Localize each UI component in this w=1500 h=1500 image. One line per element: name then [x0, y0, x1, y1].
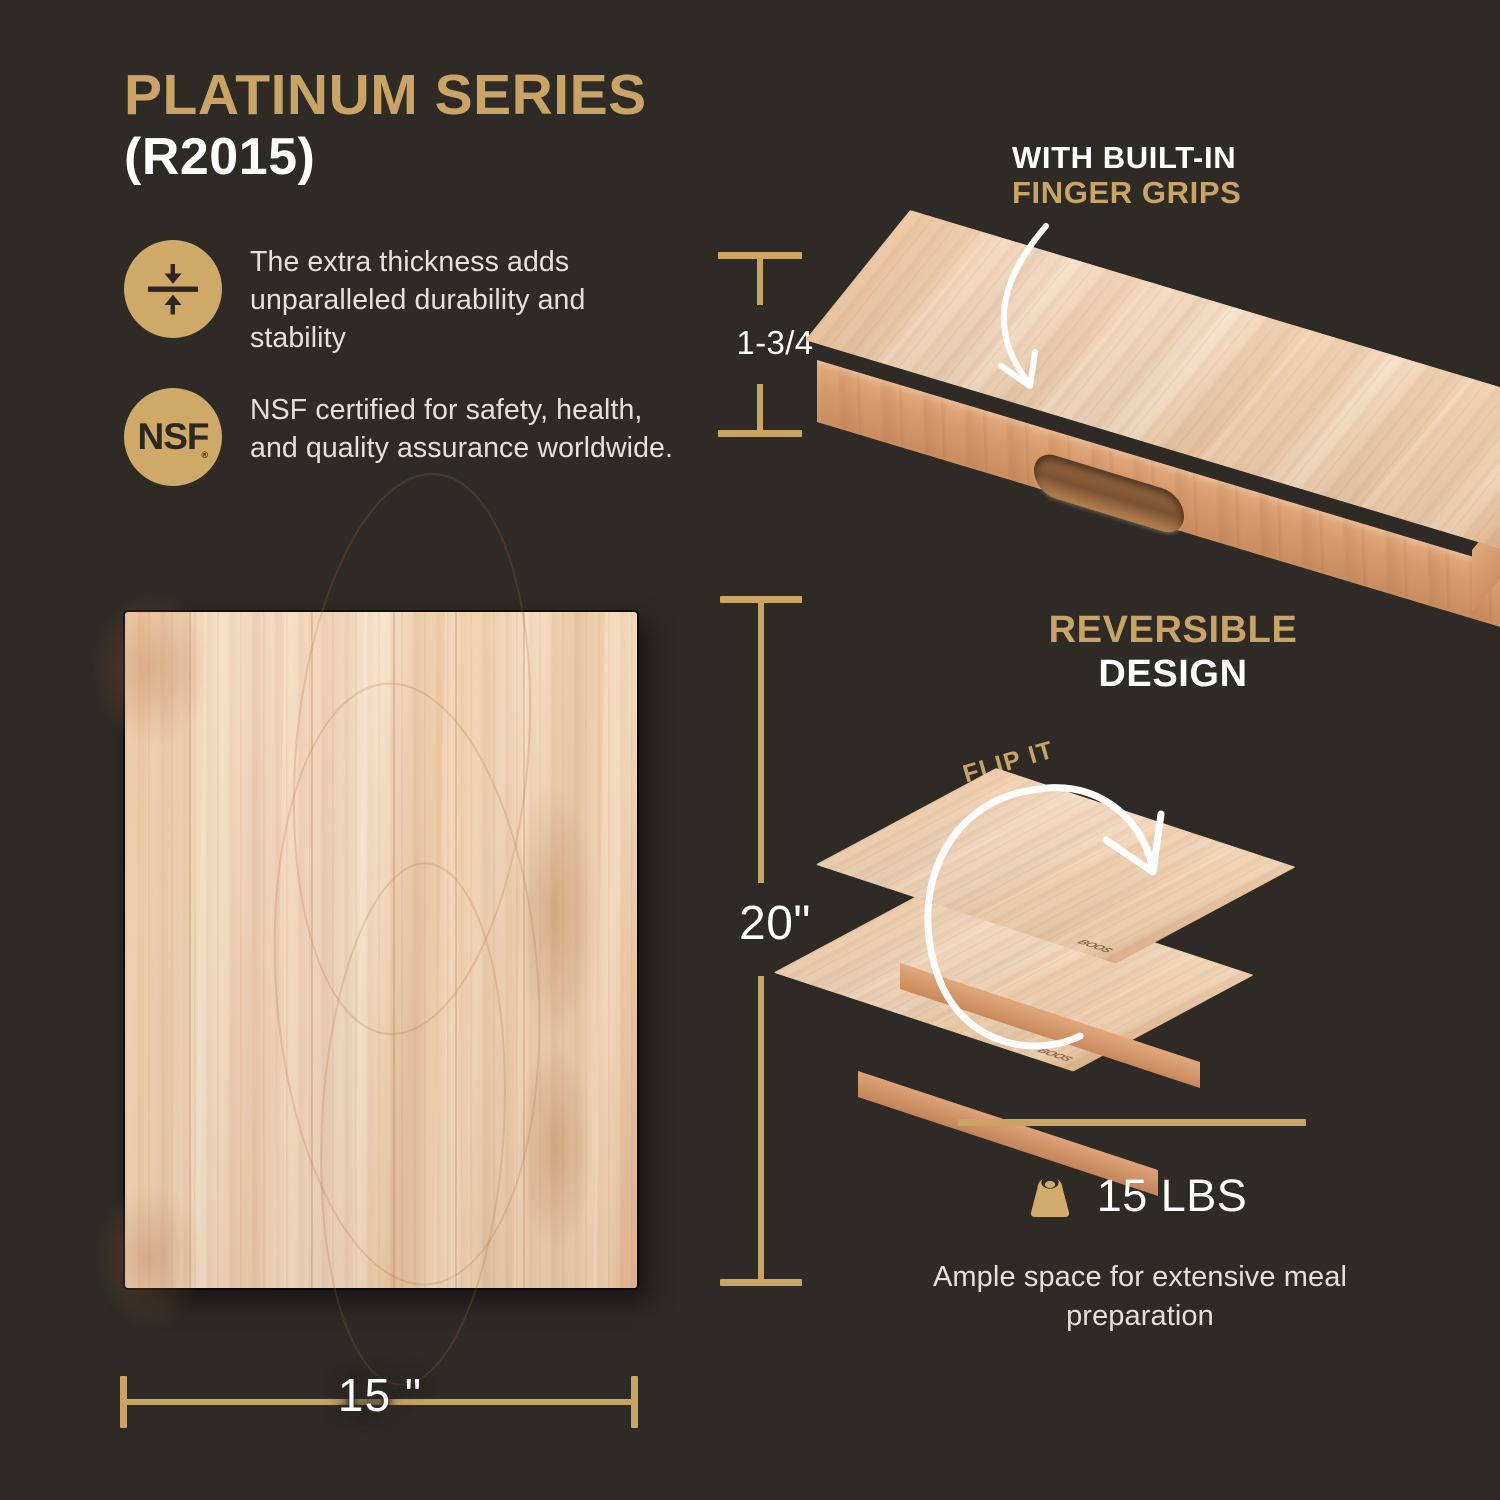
- cutting-board-grip-view: [838, 226, 1500, 594]
- feature-list: The extra thickness adds unparalleled du…: [124, 240, 684, 516]
- thickness-compress-icon: [124, 240, 222, 338]
- grip-callout-line-1: WITH BUILT-IN: [1012, 140, 1432, 175]
- height-cap-bottom: [720, 1279, 802, 1286]
- cutting-board-top-view: [125, 612, 637, 1288]
- finger-grip-callout: WITH BUILT-IN FINGER GRIPS: [1012, 140, 1432, 211]
- height-rod-bottom: [758, 976, 764, 1282]
- feature-text-nsf: NSF certified for safety, health, and qu…: [250, 388, 684, 468]
- weight-caption: Ample space for extensive meal preparati…: [880, 1258, 1400, 1336]
- wood-knot: [515, 1042, 595, 1252]
- thickness-rod-top: [757, 257, 763, 305]
- dimension-width: 15 ": [120, 1372, 640, 1442]
- reversible-heading: REVERSIBLE DESIGN: [1008, 608, 1338, 696]
- brand-mark: BOOS: [1074, 938, 1115, 954]
- width-label: 15 ": [120, 1368, 640, 1422]
- infographic-canvas: PLATINUM SERIES (R2015) The extra thickn…: [0, 0, 1500, 1500]
- feature-item-nsf: NSF ® NSF certified for safety, health, …: [124, 388, 684, 486]
- wood-knot: [507, 782, 599, 1042]
- page-title: PLATINUM SERIES (R2015): [124, 66, 824, 186]
- thickness-rod-bottom: [757, 384, 763, 432]
- nsf-label: NSF: [138, 418, 209, 455]
- feature-text-thickness: The extra thickness adds unparalleled du…: [250, 240, 684, 358]
- reversible-boards-scene: BOOS BOOS: [896, 752, 1316, 1102]
- height-rod-top: [758, 601, 764, 883]
- brand-mark: BOOS: [1034, 1047, 1075, 1063]
- thickness-cap-bottom: [718, 430, 802, 437]
- weight-kettlebell-icon: [1029, 1168, 1071, 1223]
- title-line-1: PLATINUM SERIES: [124, 66, 824, 124]
- wood-knot: [91, 588, 211, 748]
- reversible-line-2: DESIGN: [1008, 652, 1338, 696]
- weight-value: 15 LBS: [1097, 1170, 1248, 1222]
- nsf-registered-mark: ®: [201, 450, 208, 460]
- wood-knot: [95, 1182, 205, 1332]
- section-divider: [958, 1119, 1306, 1126]
- feature-item-thickness: The extra thickness adds unparalleled du…: [124, 240, 684, 358]
- nsf-certified-icon: NSF ®: [124, 388, 222, 486]
- grip-callout-line-2: FINGER GRIPS: [1012, 175, 1432, 210]
- reversible-line-1: REVERSIBLE: [1008, 608, 1338, 652]
- title-line-2: (R2015): [124, 128, 824, 186]
- weight-row: 15 LBS: [958, 1168, 1318, 1223]
